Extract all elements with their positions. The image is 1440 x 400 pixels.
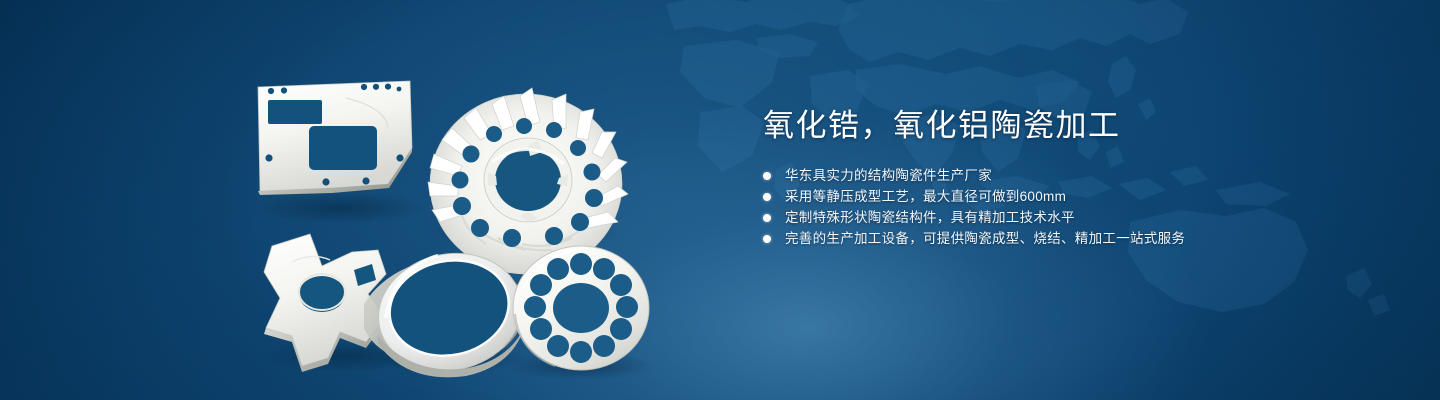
hero-banner: 氧化锆，氧化铝陶瓷加工 华东具实力的结构陶瓷件生产厂家 采用等静压成型工艺，最大… (0, 0, 1440, 400)
bullet-dot-icon (763, 193, 771, 201)
list-item-label: 采用等静压成型工艺，最大直径可做到600mm (785, 190, 1066, 204)
ceramic-plate (258, 81, 412, 195)
feature-list: 华东具实力的结构陶瓷件生产厂家 采用等静压成型工艺，最大直径可做到600mm 定… (763, 169, 1383, 246)
list-item-label: 华东具实力的结构陶瓷件生产厂家 (785, 169, 992, 183)
headline: 氧化锆，氧化铝陶瓷加工 (763, 108, 1383, 144)
list-item: 定制特殊形状陶瓷结构件，具有精加工技术水平 (763, 211, 1383, 225)
ceramic-parts-photo (236, 36, 686, 381)
list-item: 完善的生产加工设备，可提供陶瓷成型、烧结、精加工一站式服务 (763, 232, 1383, 246)
list-item: 华东具实力的结构陶瓷件生产厂家 (763, 169, 1383, 183)
bullet-dot-icon (763, 235, 771, 243)
ceramic-impeller (428, 88, 628, 274)
bullet-dot-icon (763, 172, 771, 180)
banner-copy: 氧化锆，氧化铝陶瓷加工 华东具实力的结构陶瓷件生产厂家 采用等静压成型工艺，最大… (763, 108, 1383, 253)
bullet-dot-icon (763, 214, 771, 222)
list-item-label: 定制特殊形状陶瓷结构件，具有精加工技术水平 (785, 211, 1075, 225)
list-item: 采用等静压成型工艺，最大直径可做到600mm (763, 190, 1383, 204)
list-item-label: 完善的生产加工设备，可提供陶瓷成型、烧结、精加工一站式服务 (785, 232, 1185, 246)
ceramic-perforated-disc (513, 246, 649, 370)
